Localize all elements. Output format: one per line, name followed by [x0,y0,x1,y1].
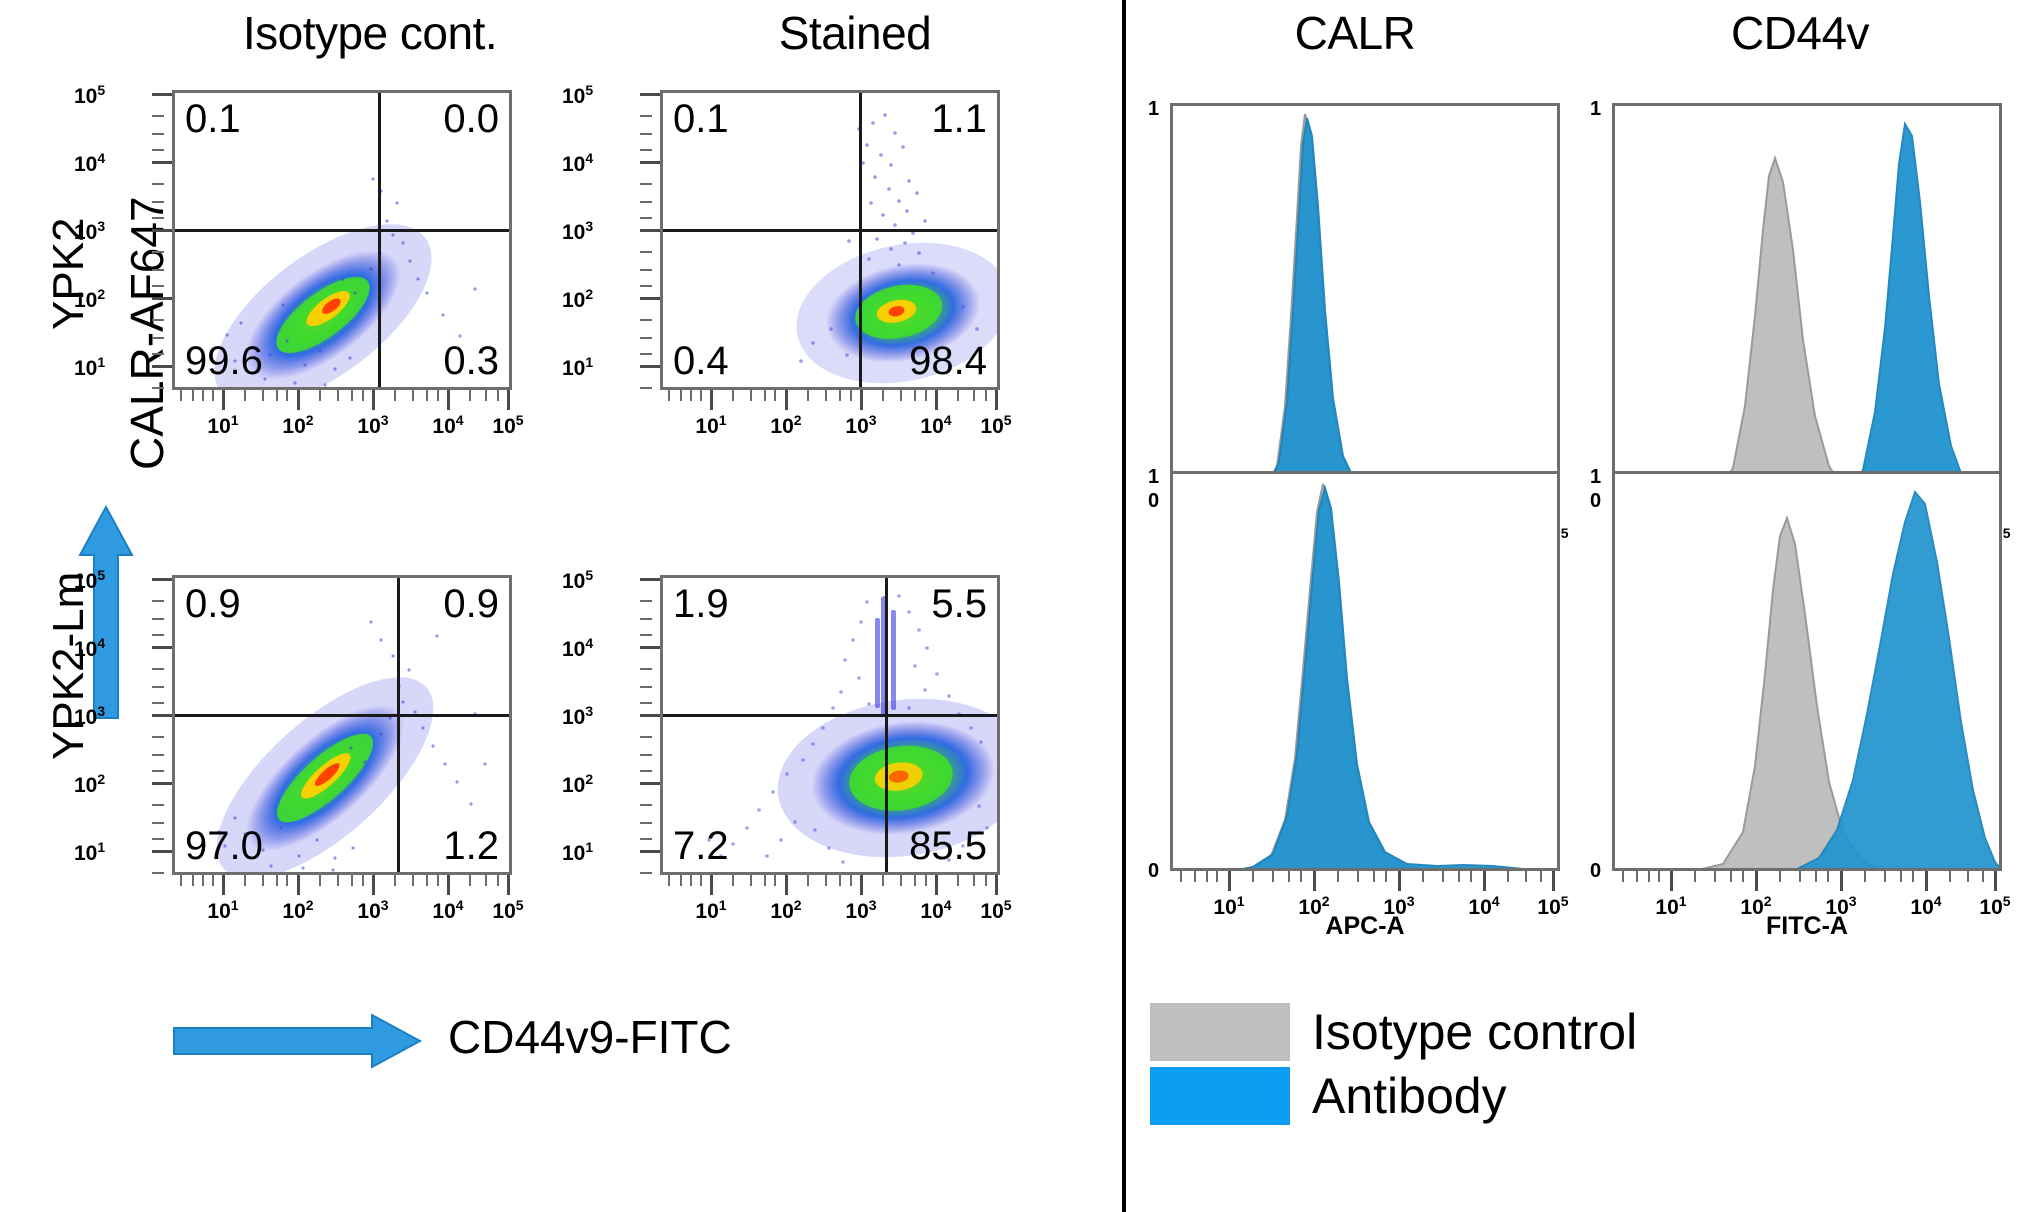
panel-divider [1122,0,1126,1212]
quadrant-hline [663,714,997,717]
quadrant-vline [859,93,862,387]
legend-label-isotype: Isotype control [1312,1003,1637,1061]
up-arrow-icon [78,505,134,720]
histogram-canvas [1615,106,2002,503]
quadrant-pct-upper-left: 0.1 [673,99,729,139]
quadrant-vline [885,578,888,872]
quadrant-pct-lower-right: 1.2 [443,826,499,866]
legend-swatch-isotype [1150,1003,1290,1061]
histogram-canvas [1173,474,1560,871]
hist-3-ymax-label: 1 [1148,466,1159,489]
dotplot-ypk2-stained[interactable]: 0.1 1.1 0.4 98.4 [660,90,1000,390]
quadrant-vline [397,578,400,872]
legend-swatch-antibody [1150,1067,1290,1125]
quadrant-pct-upper-right: 5.5 [931,584,987,624]
quadrant-pct-lower-right: 0.3 [443,341,499,381]
quadrant-pct-lower-left: 97.0 [185,826,263,866]
antibody-trace [1173,118,1560,503]
column-header-calr: CALR [1155,6,1555,60]
quadrant-pct-lower-right: 85.5 [909,826,987,866]
right-arrow-icon [172,1012,422,1070]
column-header-isotype: Isotype cont. [170,6,570,60]
legend-item-antibody: Antibody [1150,1067,1637,1125]
quadrant-pct-upper-right: 1.1 [931,99,987,139]
histogram-cd44v-ypk2[interactable] [1612,103,2002,503]
antibody-trace [1795,124,2002,503]
legend-label-antibody: Antibody [1312,1067,1507,1125]
quadrant-vline [378,93,381,387]
dotplot-ypk2lm-stained[interactable]: 1.9 5.5 7.2 85.5 [660,575,1000,875]
quadrant-hline [175,714,509,717]
quadrant-pct-upper-right: 0.9 [443,584,499,624]
histogram-calr-ypk2lm[interactable] [1170,471,1560,871]
y-axis-title: CALR-AF647 [120,196,174,470]
histogram-cd44v-ypk2lm[interactable] [1612,471,2002,871]
antibody-trace [1173,488,1560,871]
hist-4-ymin-label: 0 [1590,860,1601,883]
hist-2-ymin-label: 0 [1590,490,1601,513]
dotplot-ypk2lm-isotype[interactable]: 0.9 0.9 97.0 1.2 [172,575,512,875]
flow-cytometry-figure: Isotype cont. Stained CALR CD44v YPK2 YP… [0,0,2031,1212]
quadrant-pct-upper-left: 0.9 [185,584,241,624]
legend-item-isotype: Isotype control [1150,1003,1637,1061]
histogram-calr-ypk2[interactable] [1170,103,1560,503]
quadrant-pct-lower-left: 0.4 [673,341,729,381]
hist-4-x-title: FITC-A [1712,912,1902,941]
legend: Isotype control Antibody [1150,1003,1637,1131]
quadrant-hline [175,229,509,232]
hist-3-ymin-label: 0 [1148,860,1159,883]
quadrant-pct-lower-left: 99.6 [185,341,263,381]
histogram-canvas [1173,106,1560,503]
hist-1-ymin-label: 0 [1148,490,1159,513]
histogram-canvas [1615,474,2002,871]
hist-1-ymax-label: 1 [1148,98,1159,121]
quadrant-pct-upper-left: 1.9 [673,584,729,624]
quadrant-pct-lower-left: 7.2 [673,826,729,866]
hist-2-ymax-label: 1 [1590,98,1601,121]
dotplot-ypk2-isotype[interactable]: 0.1 0.0 99.6 0.3 [172,90,512,390]
x-axis-title: CD44v9-FITC [448,1010,732,1064]
isotype-trace [1173,114,1560,503]
hist-4-ymax-label: 1 [1590,466,1601,489]
column-header-cd44v: CD44v [1600,6,2000,60]
quadrant-pct-upper-right: 0.0 [443,99,499,139]
quadrant-hline [663,229,997,232]
quadrant-pct-lower-right: 98.4 [909,341,987,381]
hist-3-x-title: APC-A [1270,912,1460,941]
column-header-stained: Stained [660,6,1050,60]
quadrant-pct-upper-left: 0.1 [185,99,241,139]
